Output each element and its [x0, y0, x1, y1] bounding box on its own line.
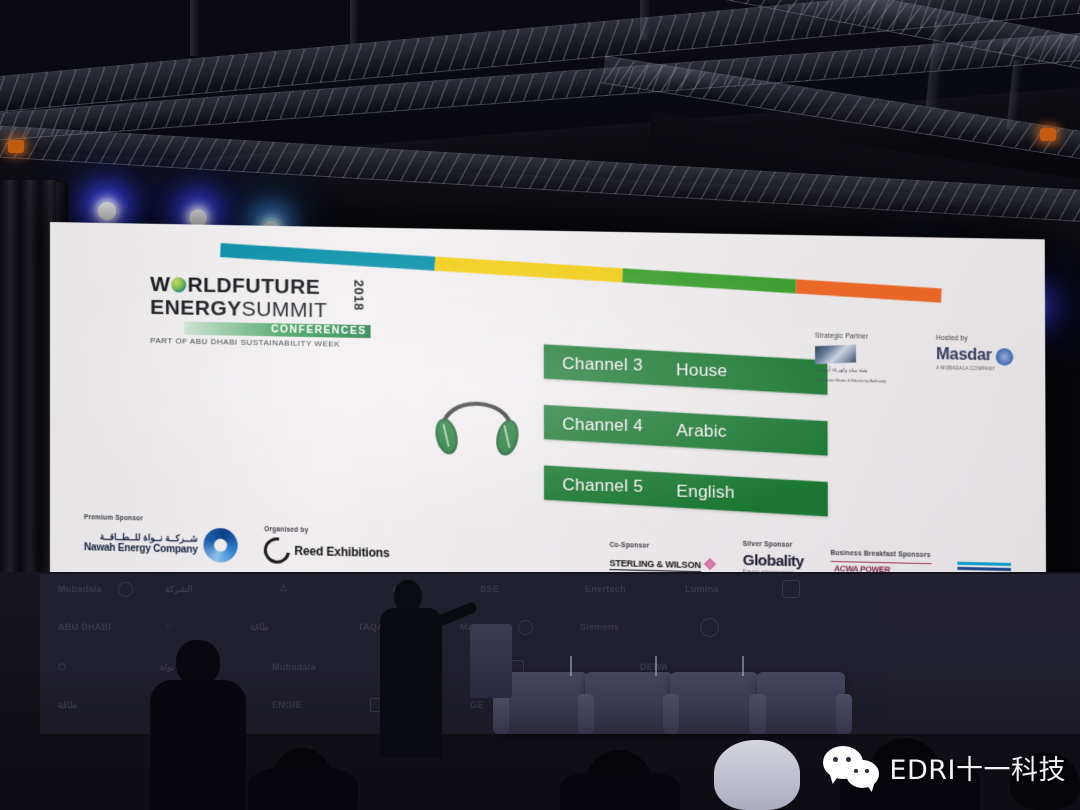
logo-subtitle: PART OF ABU DHABI SUSTAINABILITY WEEK: [150, 336, 371, 349]
sponsor-globality: Silver Sponsor Globality Energy advancem…: [743, 541, 804, 576]
partner-adwea: Strategic Partner هيئة مياه وكهرباء أبوظ…: [815, 333, 895, 384]
dnv-bar-icon: [957, 567, 1011, 571]
lectern: [470, 624, 512, 698]
color-segment-yellow: [435, 257, 623, 283]
presenter-silhouette: [380, 580, 442, 755]
audience-shoulders: [248, 766, 358, 810]
sterling-wilson-mark-icon: [704, 558, 716, 570]
sponsor-label: Organised by: [264, 526, 389, 536]
adwea-flag-icon: [815, 344, 856, 365]
ceiling-area: [0, 0, 1080, 250]
dnv-bar-icon: [957, 562, 1011, 566]
amber-indicator-light: [8, 140, 24, 153]
logo-year: 2018: [352, 280, 365, 320]
sponsor-label: Premium Sponsor: [84, 514, 238, 524]
stage-armchair: [585, 672, 673, 734]
presentation-screen: W RLD FUTURE 2018 ENERGY SUMMIT CONFEREN…: [50, 222, 1030, 582]
sponsor-reed: Organised by Reed Exhibitions: [264, 526, 389, 566]
channel-language: House: [676, 360, 727, 381]
conference-photo: W RLD FUTURE 2018 ENERGY SUMMIT CONFEREN…: [0, 0, 1080, 810]
channel-number: Channel 4: [562, 415, 656, 437]
watermark: EDRI十一科技: [823, 746, 1066, 788]
watermark-text: EDRI十一科技: [889, 748, 1066, 787]
partner-arabic-name: هيئة مياه وكهرباء أبوظبي: [815, 367, 895, 375]
partner-tagline: A MUBADALA COMPANY: [936, 365, 1016, 372]
masdar-sun-icon: [996, 348, 1014, 366]
channel-list: Channel 3 House Channel 4 Arabic Channel…: [544, 350, 828, 538]
sponsor-label: Silver Sponsor: [743, 541, 804, 549]
logo-line2-b: SUMMIT: [242, 299, 328, 322]
sponsor-strip: Premium Sponsor شــركــة نــواة للــطــا…: [50, 513, 1046, 581]
sponsor-group-left: Premium Sponsor شــركــة نــواة للــطــا…: [84, 514, 389, 566]
partner-label: Strategic Partner: [815, 333, 895, 343]
stage-armchair: [670, 672, 758, 734]
partner-name: Masdar: [936, 346, 992, 365]
sponsor-label: Business Breakfast Sponsors: [830, 550, 930, 559]
partner-label: Hosted by: [936, 335, 1016, 345]
wechat-icon: [823, 746, 879, 788]
logo-conferences-band: CONFERENCES: [184, 322, 370, 339]
headphones-icon: [430, 370, 523, 461]
nawah-swirl-icon: [204, 528, 238, 563]
channel-language: English: [676, 481, 734, 502]
logo-line1-c: FUTURE: [232, 275, 320, 298]
amber-indicator-light: [1040, 128, 1056, 141]
color-segment-orange: [795, 279, 941, 302]
audience-headdress: [714, 740, 800, 810]
table-microphone: [570, 656, 572, 676]
channel-row[interactable]: Channel 5 English: [544, 465, 828, 516]
sponsor-label: Co-Sponsor: [609, 542, 716, 551]
sponsor-name: STERLING & WILSON: [609, 558, 700, 572]
logo-line2-a: ENERGY: [150, 297, 242, 320]
sponsor-name: Reed Exhibitions: [294, 544, 389, 560]
truss-post: [640, 0, 650, 40]
wfes-logo: W RLD FUTURE 2018 ENERGY SUMMIT CONFEREN…: [150, 274, 371, 349]
sponsor-name: Nawah Energy Company: [84, 542, 198, 556]
table-microphone: [742, 656, 744, 676]
partner-masdar: Hosted by Masdar A MUBADALA COMPANY: [936, 335, 1016, 372]
standing-attendee-silhouette: [150, 640, 246, 810]
table-microphone: [655, 656, 657, 676]
sponsor-sterling-wilson: Co-Sponsor STERLING & WILSON: [609, 542, 716, 574]
globe-icon: [171, 277, 186, 292]
logo-line1-a: W: [150, 274, 170, 295]
stage-armchair: [500, 672, 588, 734]
sponsor-nawah: Premium Sponsor شــركــة نــواة للــطــا…: [84, 514, 238, 563]
color-segment-teal: [220, 243, 435, 271]
logo-line1-b: RLD: [187, 275, 232, 297]
stage-armchair: [757, 672, 845, 734]
channel-number: Channel 3: [562, 354, 656, 376]
channel-number: Channel 5: [562, 475, 656, 497]
channel-row[interactable]: Channel 3 House: [544, 344, 828, 395]
color-segment-green: [622, 268, 796, 293]
channel-language: Arabic: [676, 420, 726, 441]
channel-row[interactable]: Channel 4 Arabic: [544, 405, 828, 456]
sponsor-name: Globality: [743, 552, 804, 571]
truss-post: [190, 0, 199, 56]
truss-post: [350, 0, 358, 44]
partner-logos: Strategic Partner هيئة مياه وكهرباء أبوظ…: [815, 333, 1016, 386]
audience-shoulders: [560, 770, 680, 810]
reed-c-icon: [259, 532, 296, 568]
